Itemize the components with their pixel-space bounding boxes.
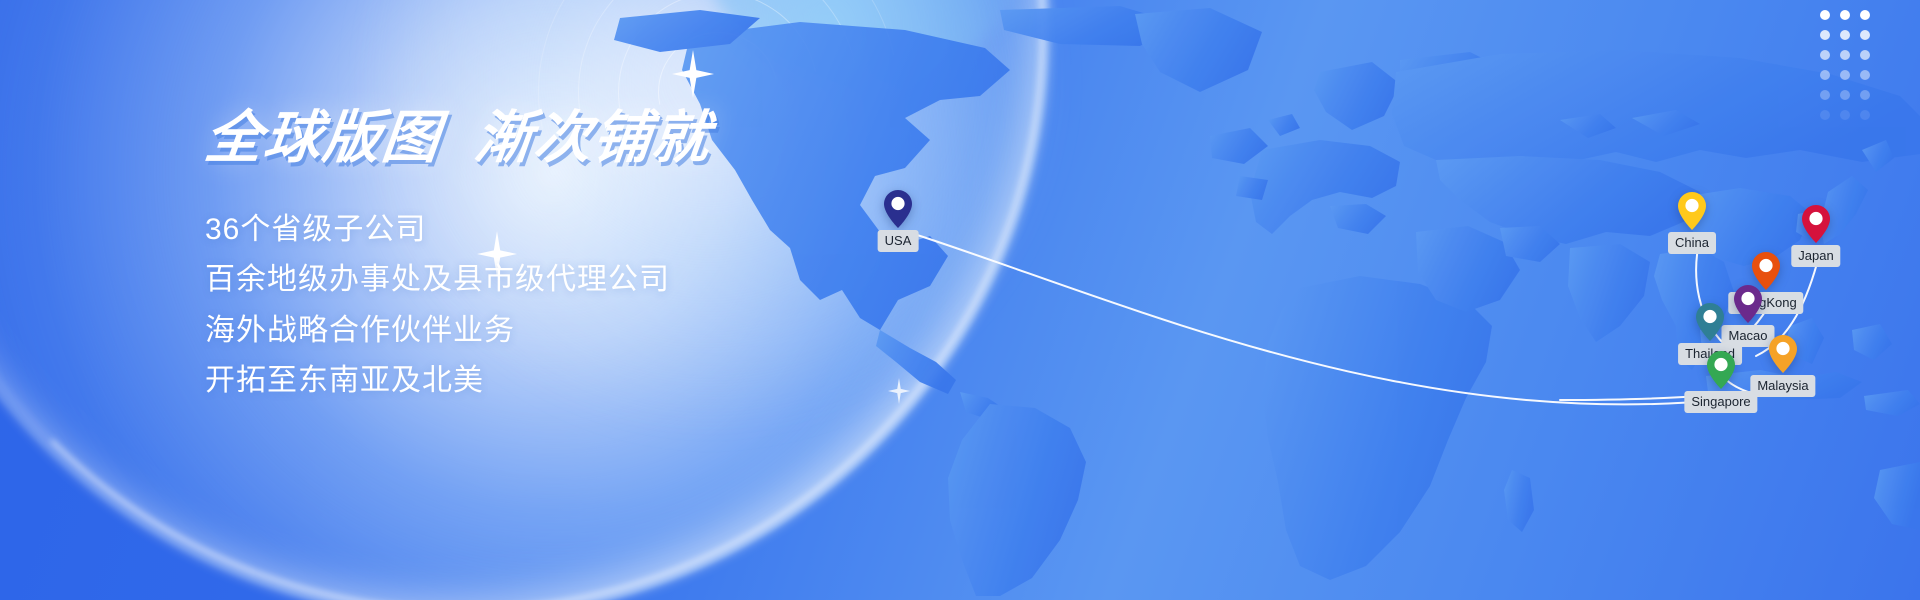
location-pin-icon xyxy=(1678,192,1706,230)
grid-dot xyxy=(1820,90,1830,100)
highlight-line: 开拓至东南亚及北美 xyxy=(205,361,965,401)
page-title: 全球版图渐次铺就 xyxy=(202,108,968,170)
location-pin-icon xyxy=(1696,303,1724,341)
grid-dot xyxy=(1820,70,1830,80)
headline-right: 渐次铺就 xyxy=(472,106,715,170)
map-marker-thailand[interactable]: Thailand xyxy=(1696,303,1724,341)
grid-dot xyxy=(1860,50,1870,60)
map-marker-label: Singapore xyxy=(1684,391,1757,413)
grid-dot xyxy=(1820,110,1830,120)
highlight-line: 36个省级子公司 xyxy=(205,210,965,250)
grid-dot xyxy=(1840,50,1850,60)
copy-block: 全球版图渐次铺就 36个省级子公司 百余地级办事处及县市级代理公司 海外战略合作… xyxy=(205,108,965,412)
grid-dot xyxy=(1860,30,1870,40)
location-pin-icon xyxy=(1802,205,1830,243)
map-marker-china[interactable]: China xyxy=(1678,192,1706,230)
grid-dot xyxy=(1840,70,1850,80)
highlight-line: 海外战略合作伙伴业务 xyxy=(205,311,965,351)
map-marker-label: USA xyxy=(878,230,919,252)
map-marker-label: China xyxy=(1668,232,1716,254)
grid-dot xyxy=(1860,70,1870,80)
grid-dot xyxy=(1820,30,1830,40)
map-marker-label: Malaysia xyxy=(1750,375,1815,397)
grid-dot xyxy=(1820,50,1830,60)
highlight-list: 36个省级子公司 百余地级办事处及县市级代理公司 海外战略合作伙伴业务 开拓至东… xyxy=(205,210,965,401)
grid-dot xyxy=(1840,110,1850,120)
headline-left: 全球版图 xyxy=(202,106,445,170)
highlight-line: 百余地级办事处及县市级代理公司 xyxy=(205,260,965,300)
map-marker-singapore[interactable]: Singapore xyxy=(1707,351,1735,389)
location-pin-icon xyxy=(1769,335,1797,373)
map-marker-malaysia[interactable]: Malaysia xyxy=(1769,335,1797,373)
global-footprint-banner: 全球版图渐次铺就 36个省级子公司 百余地级办事处及县市级代理公司 海外战略合作… xyxy=(0,0,1920,600)
location-pin-icon xyxy=(1734,285,1762,323)
map-marker-macao[interactable]: Macao xyxy=(1734,285,1762,323)
map-marker-japan[interactable]: Japan xyxy=(1802,205,1830,243)
map-marker-label: Japan xyxy=(1791,245,1840,267)
grid-dot xyxy=(1820,10,1830,20)
location-pin-icon xyxy=(884,190,912,228)
grid-dot xyxy=(1860,10,1870,20)
grid-dot xyxy=(1860,110,1870,120)
grid-dot xyxy=(1840,90,1850,100)
grid-dot xyxy=(1840,30,1850,40)
map-marker-usa[interactable]: USA xyxy=(884,190,912,228)
location-pin-icon xyxy=(1707,351,1735,389)
grid-dot xyxy=(1860,90,1870,100)
dot-grid-decoration xyxy=(1820,10,1880,130)
grid-dot xyxy=(1840,10,1850,20)
